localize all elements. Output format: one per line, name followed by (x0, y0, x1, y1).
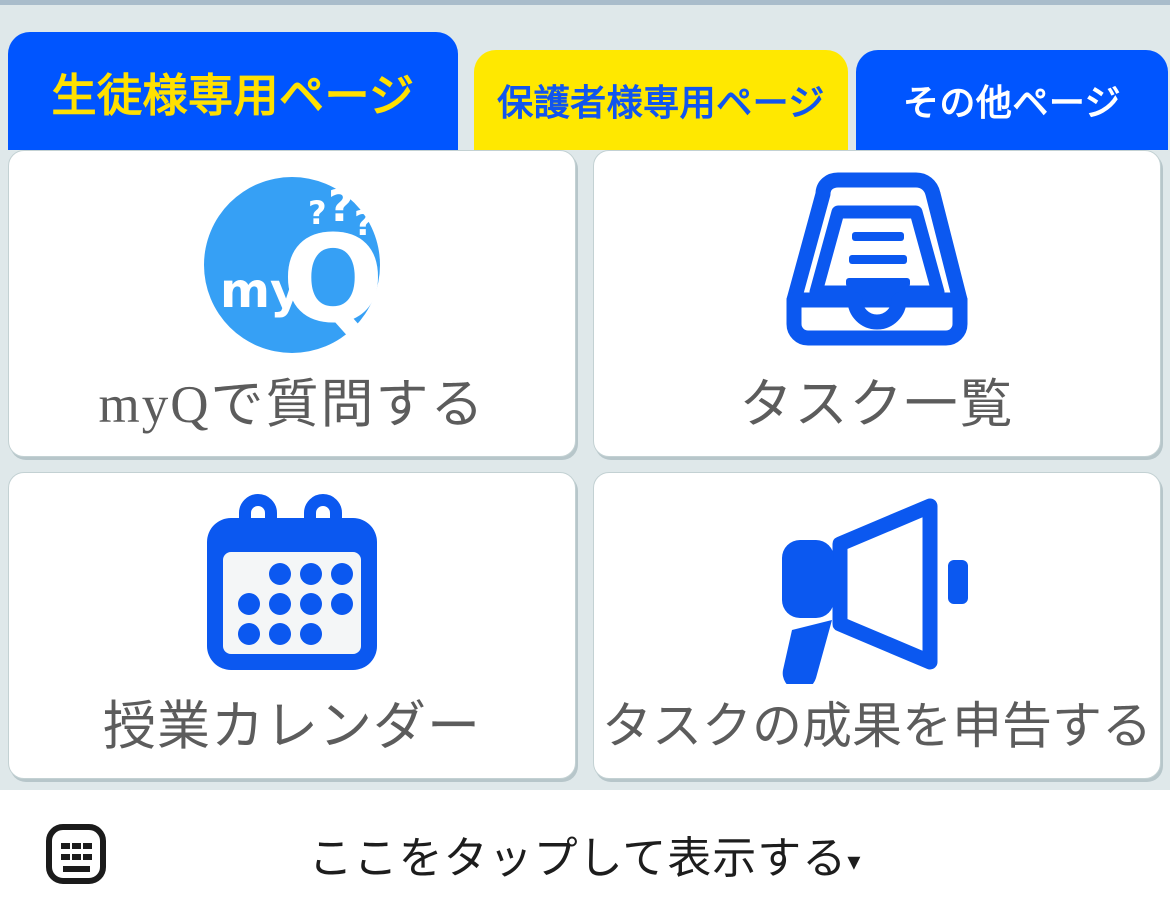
tab-guardian-page[interactable]: 保護者様専用ページ (474, 50, 848, 150)
chevron-down-icon: ▾ (847, 846, 861, 876)
tab-bar: 生徒様専用ページ 保護者様専用ページ その他ページ (0, 5, 1170, 150)
question-mark-icon: ? (328, 185, 354, 229)
card-task-list[interactable]: タスク一覧 (593, 150, 1161, 457)
tap-to-show-hint[interactable]: ここをタップして表示する▾ (0, 822, 1170, 886)
card-ask-myq-label: myQで質問する (99, 362, 486, 438)
tab-student-page-label: 生徒様専用ページ (51, 59, 414, 124)
menu-card-grid: my Q ? ? ? myQで質問する (0, 150, 1170, 790)
myq-logo-icon: my Q ? ? ? (204, 170, 380, 360)
tab-student-page[interactable]: 生徒様専用ページ (8, 32, 458, 150)
card-task-list-label: タスク一覧 (740, 362, 1015, 438)
inbox-tray-icon (777, 170, 977, 360)
tab-other-page-label: その他ページ (903, 74, 1121, 126)
card-ask-myq[interactable]: my Q ? ? ? myQで質問する (8, 150, 576, 457)
question-mark-icon: ? (354, 207, 374, 241)
tap-to-show-hint-label: ここをタップして表示する (309, 834, 848, 883)
card-report-task-result[interactable]: タスクの成果を申告する (593, 472, 1161, 779)
line-richmenu-screen: 生徒様専用ページ 保護者様専用ページ その他ページ my Q ? ? ? myQ… (0, 0, 1170, 918)
bottom-bar: ここをタップして表示する▾ (0, 790, 1170, 918)
tab-other-page[interactable]: その他ページ (856, 50, 1168, 150)
tab-guardian-page-label: 保護者様専用ページ (497, 74, 825, 126)
question-mark-icon: ? (308, 197, 327, 229)
megaphone-icon (770, 494, 985, 684)
calendar-icon (197, 492, 387, 682)
card-class-calendar-label: 授業カレンダー (103, 684, 481, 760)
card-class-calendar[interactable]: 授業カレンダー (8, 472, 576, 779)
card-report-task-result-label: タスクの成果を申告する (602, 686, 1152, 758)
